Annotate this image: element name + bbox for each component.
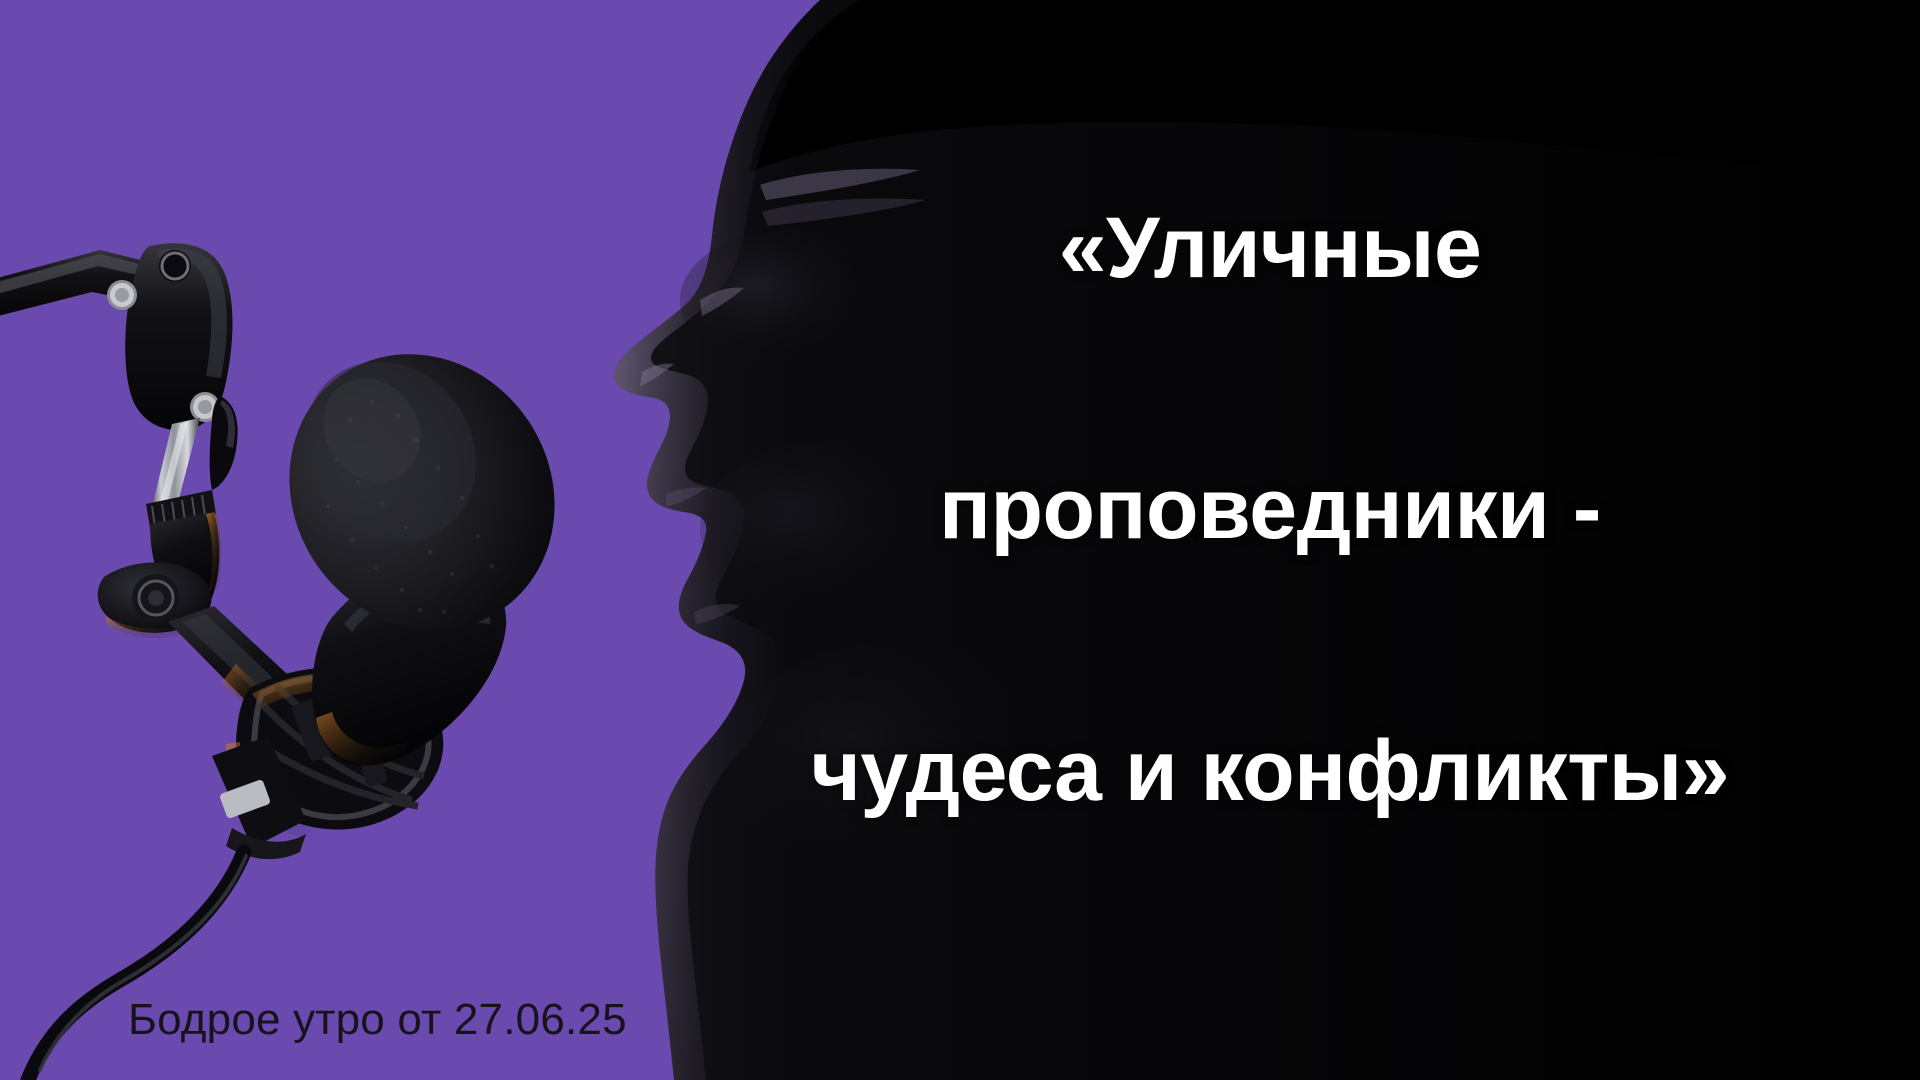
poster-canvas: «Уличные проповедники - чудеса и конфлик… bbox=[0, 0, 1920, 1080]
title-line-2: проповедники - bbox=[640, 444, 1900, 575]
episode-caption: Бодрое утро от 27.06.25 bbox=[128, 998, 627, 1042]
title-line-3: чудеса и конфликты» bbox=[640, 706, 1900, 837]
title-line-1: «Уличные bbox=[640, 183, 1900, 314]
page-title: «Уличные проповедники - чудеса и конфлик… bbox=[640, 52, 1900, 967]
